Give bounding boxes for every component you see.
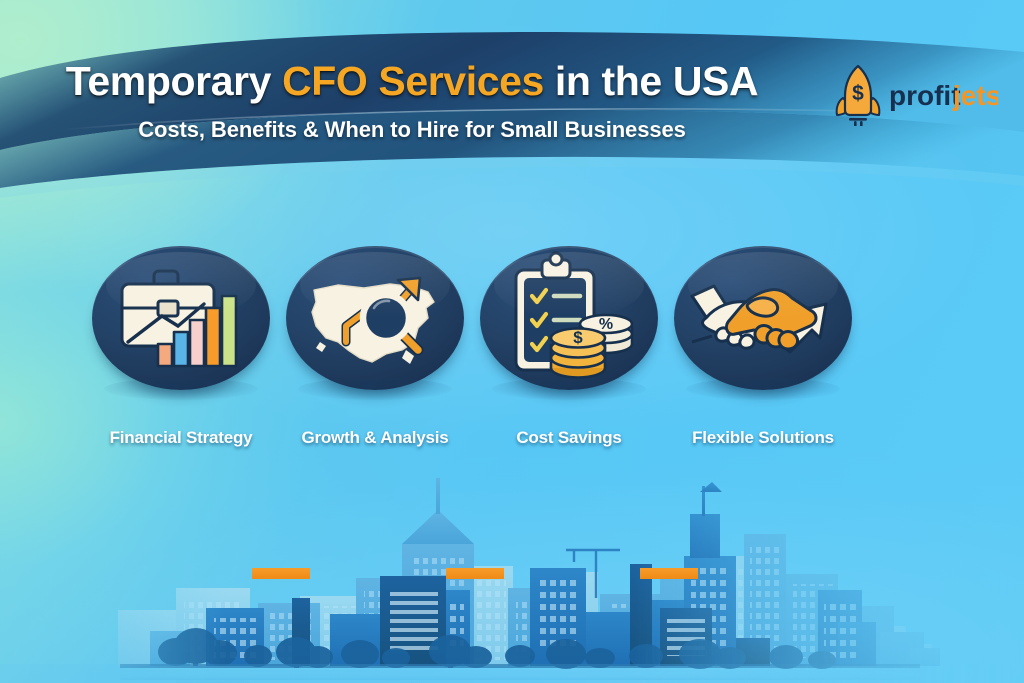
pillars-row: Financial Strategy bbox=[0, 246, 1024, 456]
rocket-dollar-icon: $ bbox=[837, 66, 880, 126]
logo-text-primary: profit bbox=[889, 80, 961, 111]
title-segment-1: Temporary bbox=[66, 58, 282, 104]
handshake-arrow-icon bbox=[674, 246, 852, 390]
pillar-label: Growth & Analysis bbox=[286, 428, 464, 448]
pillar-label: Financial Strategy bbox=[92, 428, 270, 448]
pillar-growth-analysis[interactable]: Growth & Analysis bbox=[286, 246, 464, 448]
connector-3-4 bbox=[640, 568, 698, 579]
svg-text:$: $ bbox=[852, 82, 864, 105]
briefcase-bar-chart-icon bbox=[92, 246, 270, 390]
header-text-block: Temporary CFO Services in the USA Costs,… bbox=[0, 60, 824, 143]
disc-shadow bbox=[686, 378, 840, 400]
disc-shadow bbox=[298, 378, 452, 400]
svg-text:$: $ bbox=[573, 328, 583, 347]
title-segment-accent: CFO Services bbox=[282, 58, 544, 104]
logo-text-accent: jets bbox=[952, 80, 998, 111]
disc-shadow bbox=[492, 378, 646, 400]
connector-2-3 bbox=[446, 568, 504, 579]
disc-3: % $ bbox=[480, 246, 658, 390]
disc-1 bbox=[92, 246, 270, 390]
usa-map-magnifier-arrow-icon bbox=[286, 246, 464, 390]
pillar-cost-savings[interactable]: % $ Cost Savings bbox=[480, 246, 658, 448]
page-subtitle: Costs, Benefits & When to Hire for Small… bbox=[0, 117, 824, 143]
infographic-canvas: Temporary CFO Services in the USA Costs,… bbox=[0, 0, 1024, 683]
connector-1-2 bbox=[252, 568, 310, 579]
pillar-flexible-solutions[interactable]: Flexible Solutions bbox=[674, 246, 852, 448]
disc-shadow bbox=[104, 378, 258, 400]
pillar-label: Cost Savings bbox=[480, 428, 658, 448]
pillar-financial-strategy[interactable]: Financial Strategy bbox=[92, 246, 270, 448]
page-title: Temporary CFO Services in the USA bbox=[0, 60, 824, 103]
profitjets-logo[interactable]: $ profit jets bbox=[828, 64, 998, 126]
clipboard-checklist-coins-icon: % $ bbox=[480, 246, 658, 390]
svg-text:%: % bbox=[599, 316, 613, 333]
cityscape-graphic bbox=[0, 448, 1024, 683]
pillar-label: Flexible Solutions bbox=[674, 428, 852, 448]
disc-4 bbox=[674, 246, 852, 390]
disc-2 bbox=[286, 246, 464, 390]
title-segment-2: in the USA bbox=[544, 58, 758, 104]
